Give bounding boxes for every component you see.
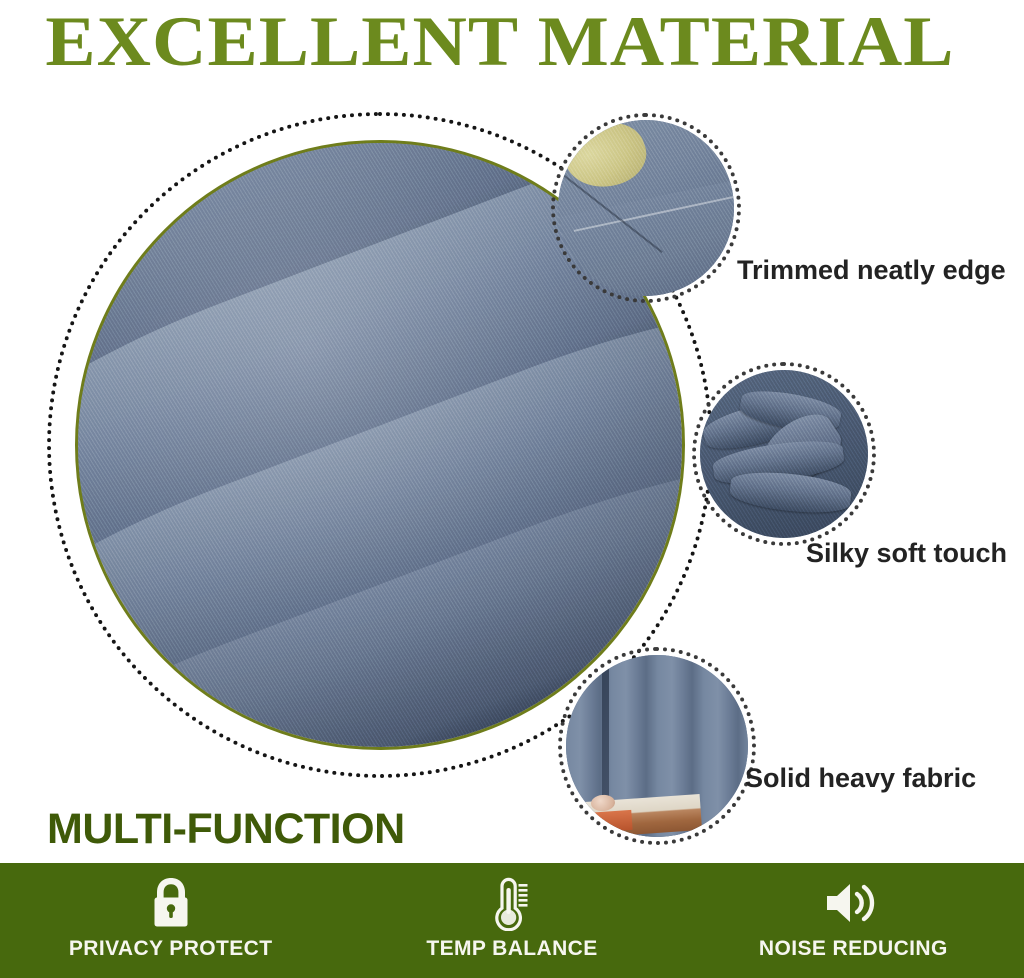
lock-icon xyxy=(146,875,196,931)
feature-noise-reducing: NOISE REDUCING xyxy=(683,863,1024,961)
speaker-icon xyxy=(823,875,883,931)
page-title: EXCELLENT MATERIAL xyxy=(0,4,1024,80)
callout-photo-solid xyxy=(566,655,748,837)
hemmed-corner-photo xyxy=(558,120,734,296)
curtain-panel-photo xyxy=(566,655,748,837)
callout-photo-edge xyxy=(558,120,734,296)
feature-privacy-protect: PRIVACY PROTECT xyxy=(0,863,341,961)
infographic-page: EXCELLENT MATERIAL Trimmed ne xyxy=(0,0,1024,978)
feature-bar: PRIVACY PROTECT TEMP BALANCE xyxy=(0,863,1024,978)
feature-temp-balance: TEMP BALANCE xyxy=(341,863,682,961)
thermometer-icon xyxy=(489,875,535,931)
callout-photo-silky xyxy=(700,370,868,538)
callout-label-silky: Silky soft touch xyxy=(806,537,1007,569)
feature-label-temp-balance: TEMP BALANCE xyxy=(426,937,597,961)
feature-label-privacy-protect: PRIVACY PROTECT xyxy=(69,937,273,961)
section-title-multi-function: MULTI-FUNCTION xyxy=(47,805,405,853)
curtain-gap-shadow xyxy=(602,655,609,812)
book-stack xyxy=(569,809,632,833)
folded-fabric-photo xyxy=(700,370,868,538)
feature-label-noise-reducing: NOISE REDUCING xyxy=(759,937,948,961)
callout-label-solid: Solid heavy fabric xyxy=(745,762,976,794)
callout-label-edge: Trimmed neatly edge xyxy=(737,254,1006,286)
